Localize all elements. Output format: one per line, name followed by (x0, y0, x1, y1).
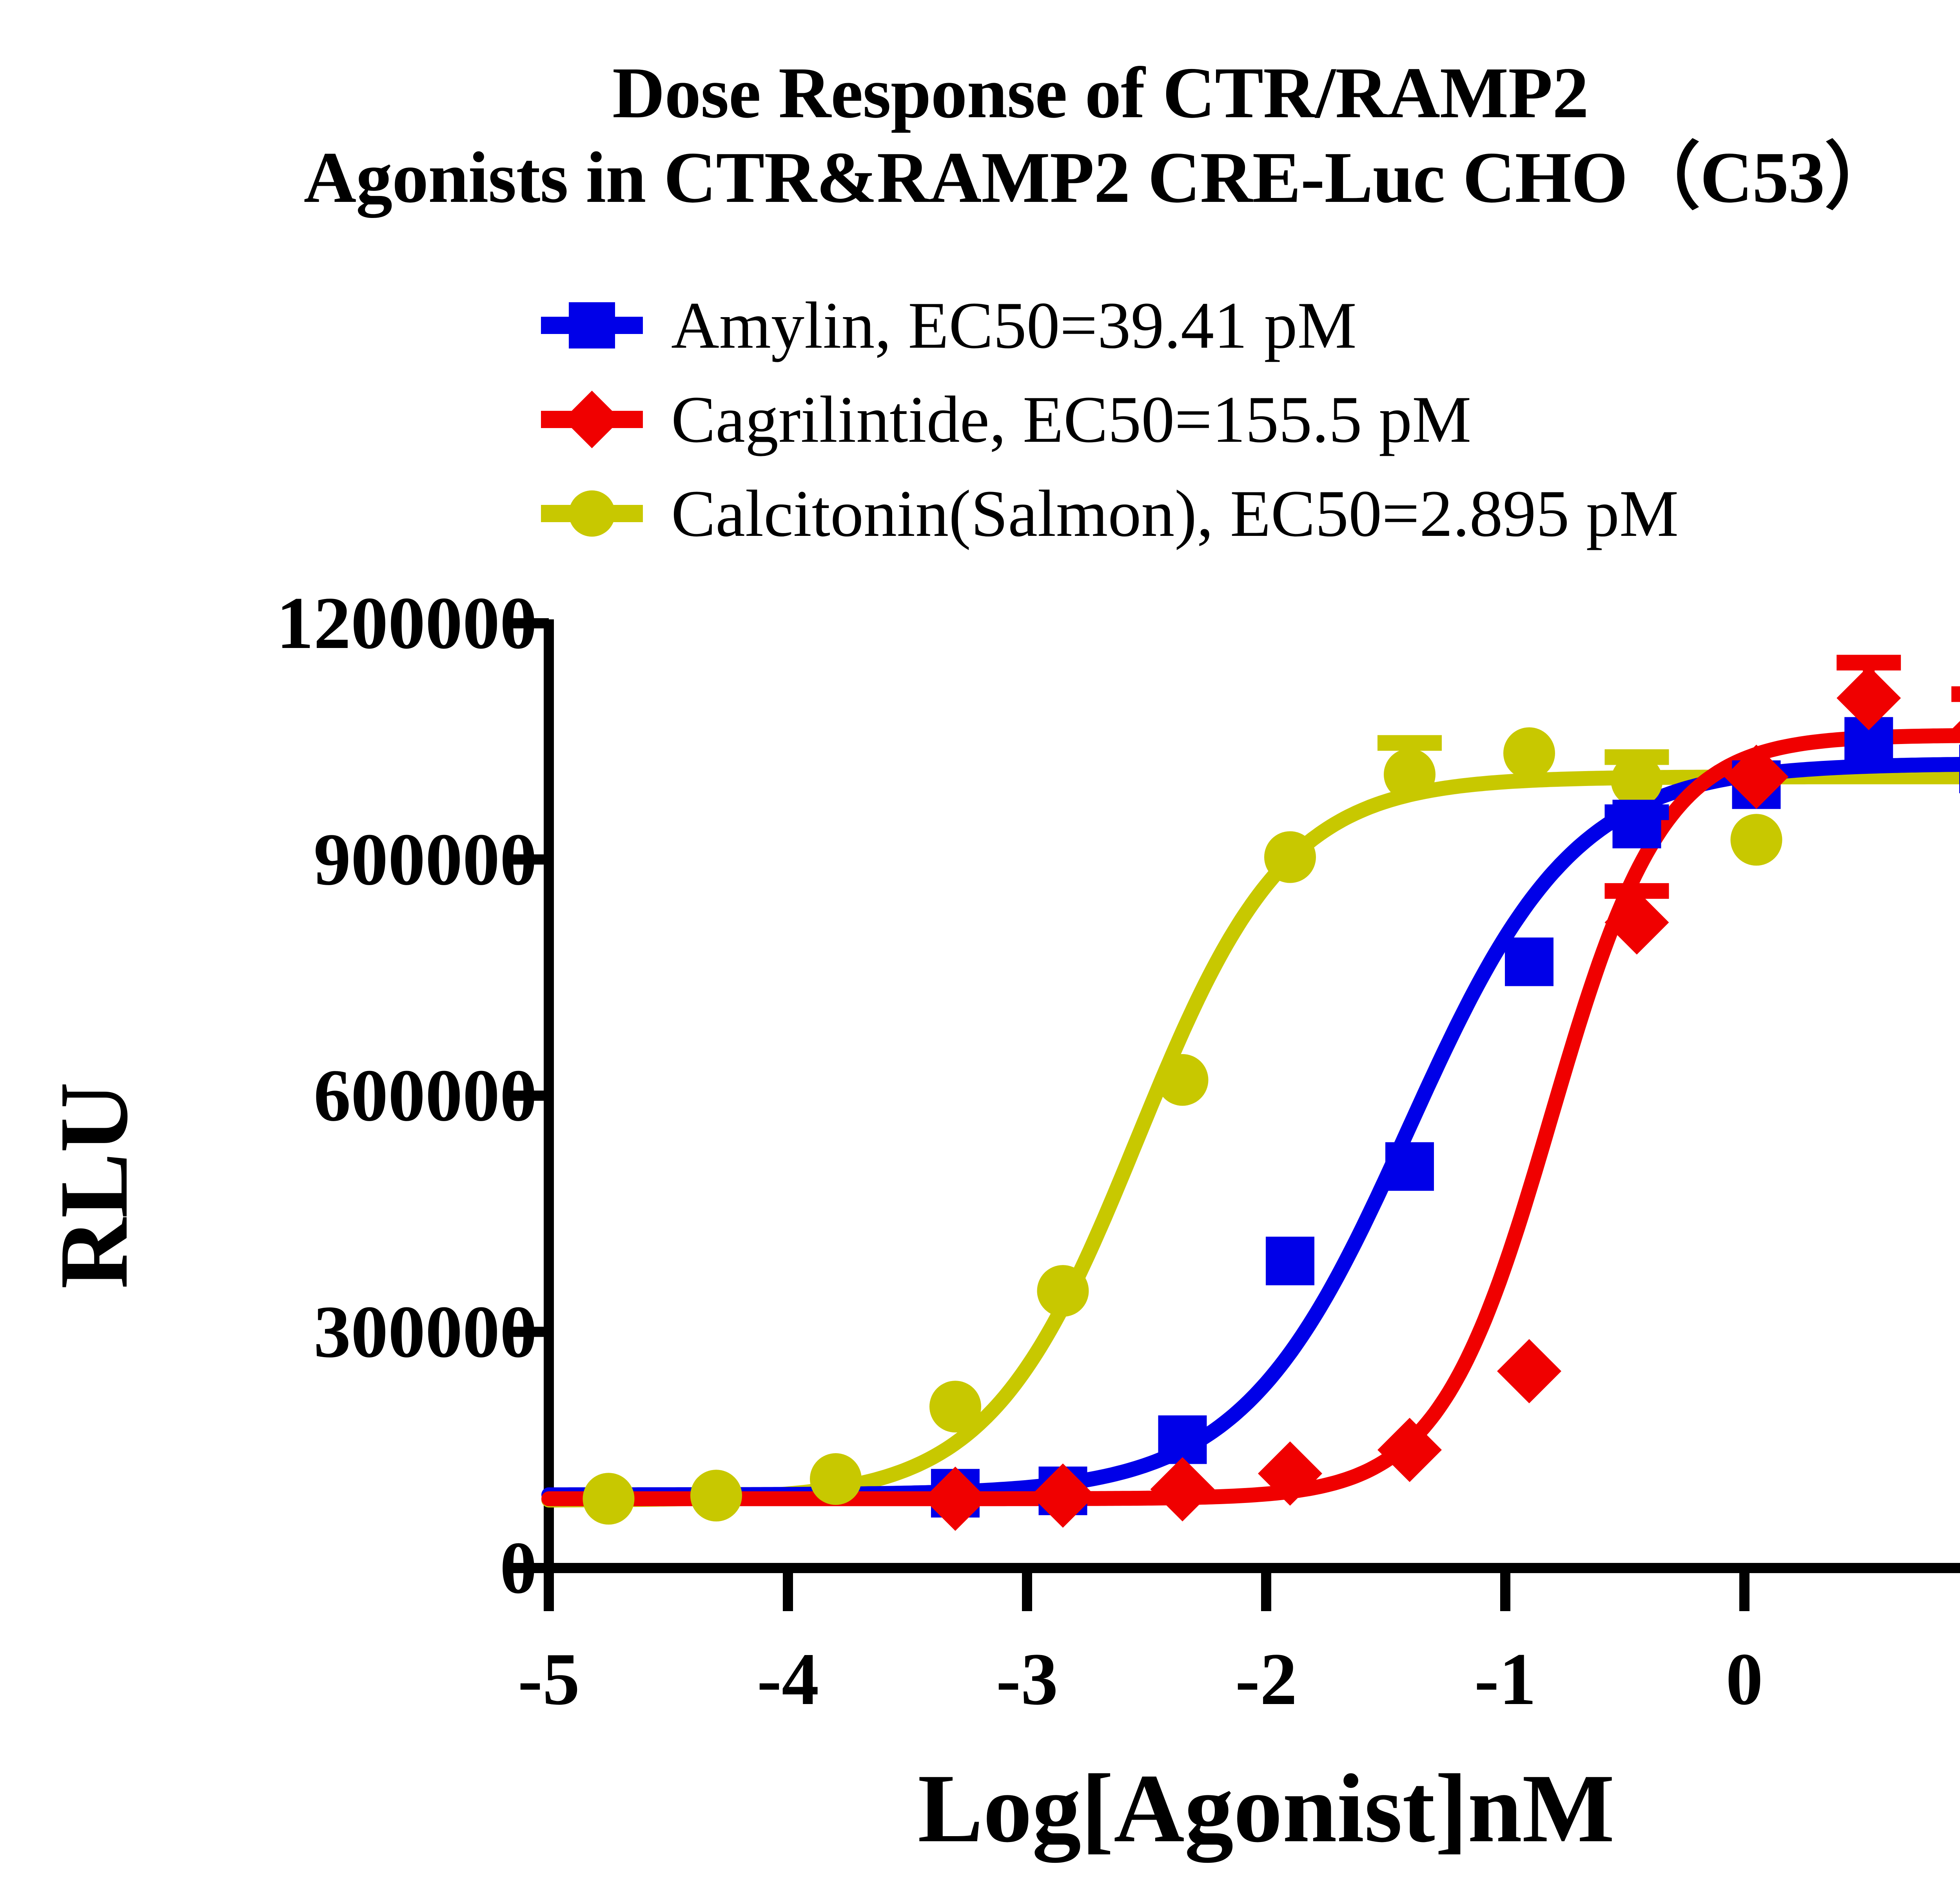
x-tick-label: -5 (470, 1637, 627, 1722)
data-point-diamond (1497, 1339, 1561, 1403)
data-point-circle (1157, 1054, 1209, 1106)
y-tick-label-text: 600000 (314, 1054, 537, 1137)
x-axis-title: Log[Agonist]nM (549, 1752, 1960, 1865)
x-tick-label: -2 (1188, 1637, 1345, 1722)
x-tick-label: 0 (1666, 1637, 1823, 1722)
y-tick-label-text: 900000 (314, 819, 537, 901)
data-point-square (1613, 800, 1661, 848)
y-tick-label: 900000 (55, 817, 537, 902)
data-point-square (1158, 1416, 1207, 1464)
x-tick-label: -3 (949, 1637, 1105, 1722)
y-tick-label-text: 1200000 (276, 582, 537, 664)
data-point-circle (929, 1381, 981, 1432)
data-point-circle (1503, 727, 1555, 779)
y-axis-title: RLU (38, 989, 151, 1381)
x-tick-label-text: -2 (1235, 1638, 1297, 1721)
data-point-square (1385, 1142, 1434, 1191)
plot-canvas (0, 0, 1960, 1902)
data-point-circle (583, 1473, 635, 1525)
data-point-diamond (1951, 697, 1960, 762)
x-tick-label: -4 (710, 1637, 866, 1722)
data-point-square (1505, 938, 1553, 986)
data-point-circle (1384, 749, 1436, 800)
data-point-circle (1037, 1265, 1089, 1317)
y-tick-label: 0 (55, 1525, 537, 1611)
data-point-square (1266, 1237, 1314, 1285)
data-point-circle (1731, 814, 1782, 866)
x-tick-label-text: -4 (757, 1638, 819, 1721)
y-tick-label-text: 300000 (314, 1291, 537, 1373)
x-tick-label-text: -1 (1474, 1638, 1536, 1721)
y-tick-label-text: 0 (500, 1527, 537, 1609)
y-tick-label: 1200000 (55, 581, 537, 666)
x-tick-label-text: -5 (518, 1638, 580, 1721)
fit-curve-amylin (549, 764, 1960, 1495)
data-point-circle (1611, 755, 1663, 807)
data-point-diamond (1605, 890, 1669, 955)
series-calcitonin-salmon- (583, 727, 1782, 1525)
x-tick-label-text: -3 (996, 1638, 1058, 1721)
x-tick-label: 1 (1905, 1637, 1960, 1722)
x-tick-label: -1 (1427, 1637, 1584, 1722)
data-point-circle (810, 1453, 862, 1505)
x-tick-label-text: 0 (1726, 1638, 1763, 1721)
dose-response-figure: Dose Response of CTR/RAMP2 Agonists in C… (0, 0, 1960, 1902)
data-point-circle (690, 1470, 742, 1521)
data-point-circle (1264, 831, 1316, 883)
